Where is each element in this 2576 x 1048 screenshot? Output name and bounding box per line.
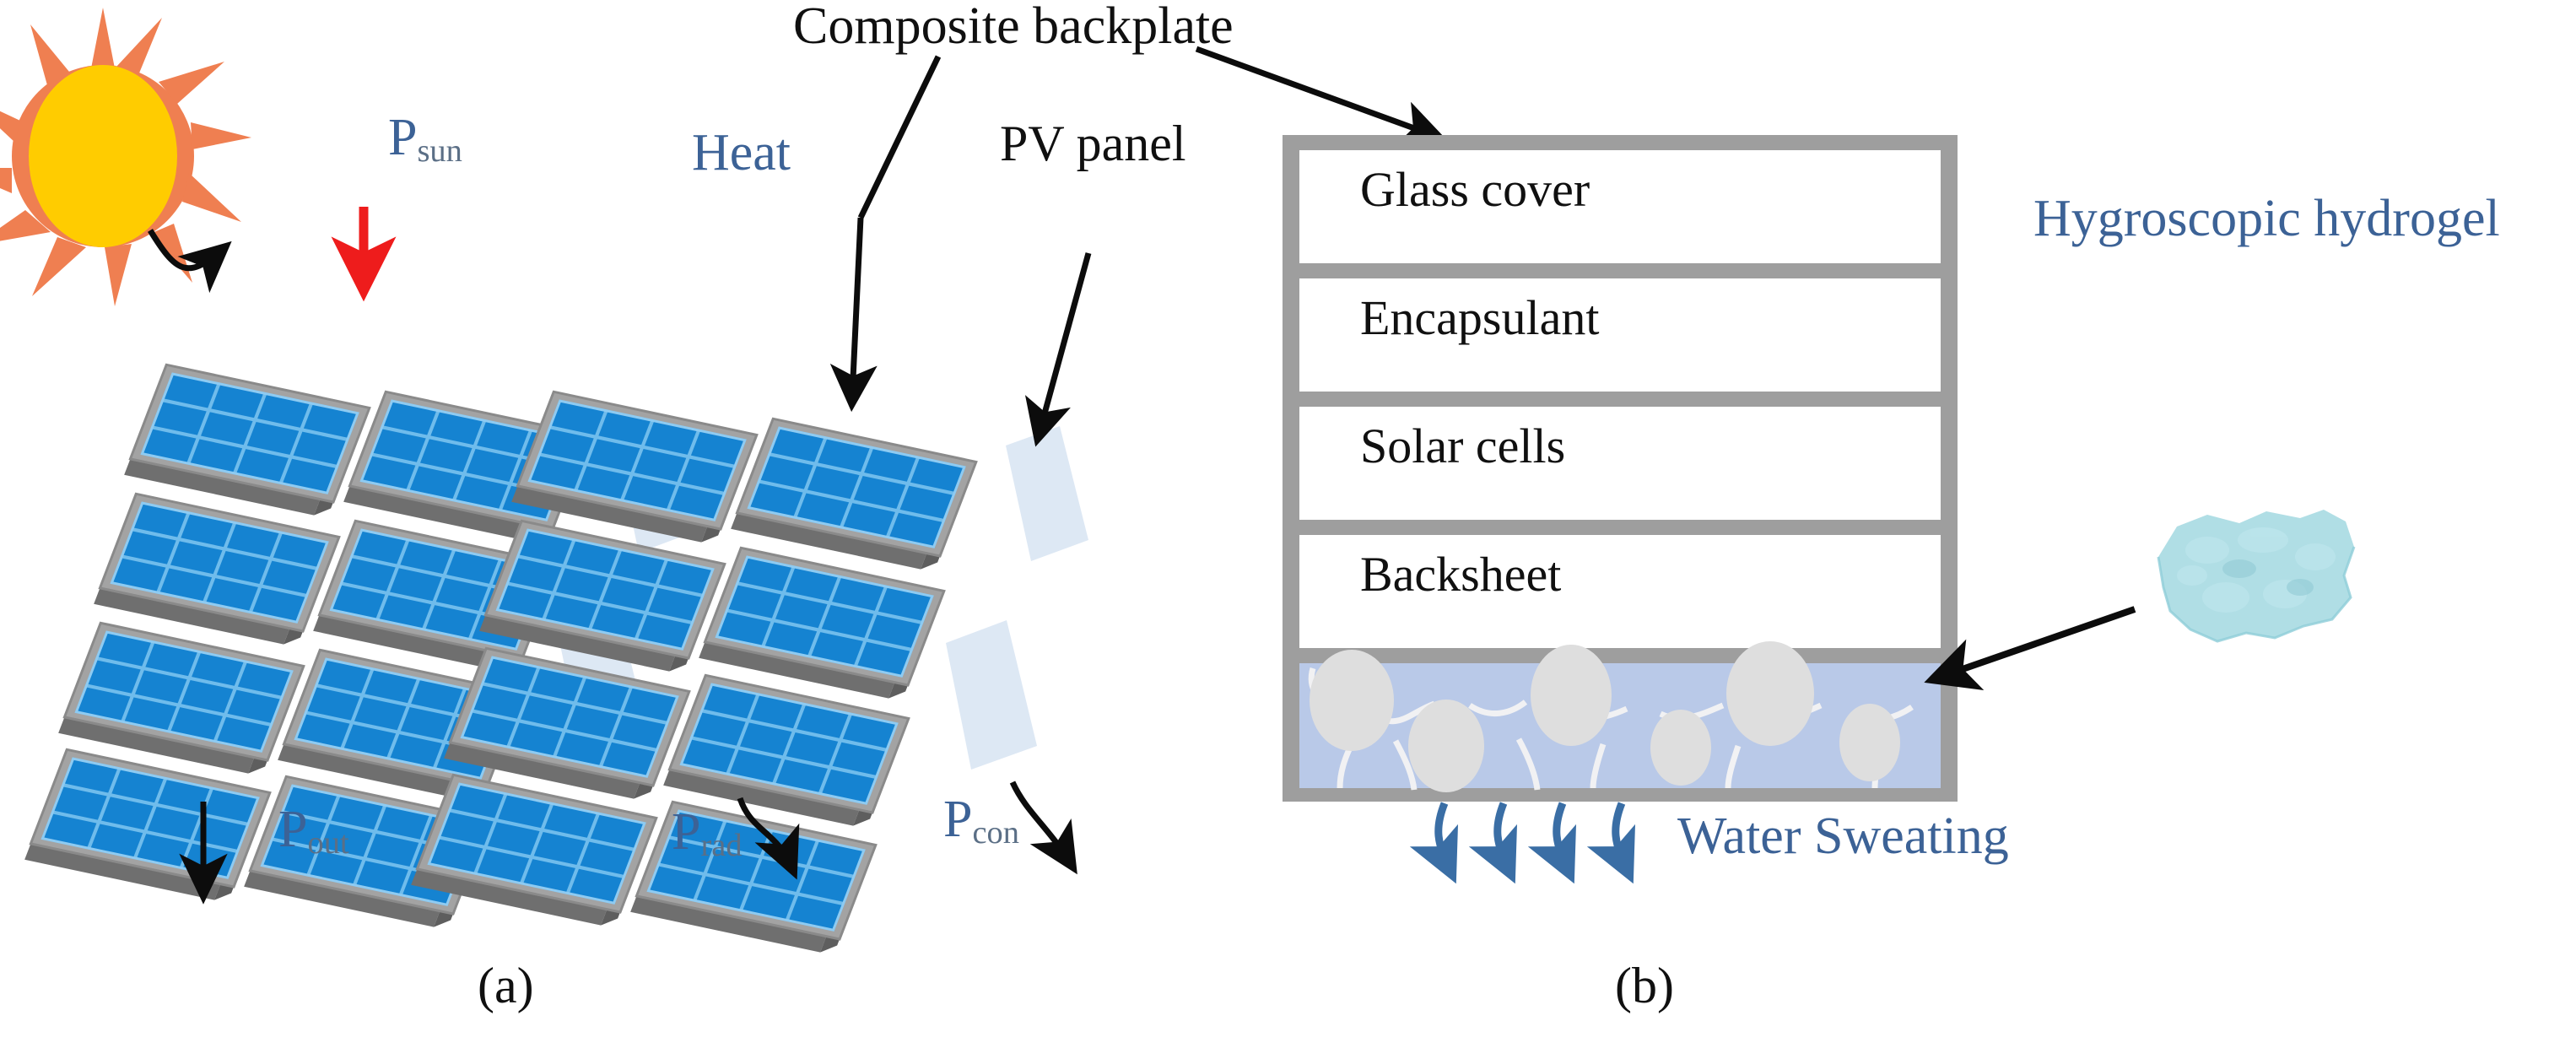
figure-graphics — [0, 0, 2576, 1048]
water-droplet-arrow-icon — [1616, 803, 1625, 866]
layer-label-backsheet: Backsheet — [1360, 550, 1561, 599]
layer-hygroscopic-hydrogel — [1299, 641, 1941, 792]
label-heat: Heat — [692, 127, 791, 179]
hydrogel-arrow-icon — [1941, 609, 2135, 677]
backplate-leader-left-stem — [861, 57, 938, 218]
label-p-rad: Prad — [672, 806, 743, 858]
label-hygroscopic-hydrogel: Hygroscopic hydrogel — [2033, 192, 2500, 245]
label-pv-panel: PV panel — [1000, 118, 1186, 169]
layer-label-encapsulant: Encapsulant — [1360, 294, 1599, 343]
hydrogel-block-icon — [2158, 510, 2354, 641]
backplate-arrow-right — [1196, 49, 1433, 135]
caption-panel-a: (a) — [478, 960, 534, 1011]
water-droplet-arrow-icon — [1557, 803, 1566, 866]
sun-icon — [0, 8, 251, 306]
layer-label-glass-cover: Glass cover — [1360, 165, 1590, 214]
p-con-arrow-icon — [1013, 782, 1070, 862]
water-droplet-arrow-icon — [1439, 803, 1448, 866]
figure-root: Psun Pout Prad Pcon Heat PV panel Compos… — [0, 0, 2576, 1048]
backplate-arrow-left — [852, 218, 861, 397]
layer-label-solar-cells: Solar cells — [1360, 422, 1565, 471]
water-droplet-arrow-icon — [1498, 803, 1507, 866]
label-water-sweating: Water Sweating — [1677, 810, 2009, 862]
caption-panel-b: (b) — [1615, 960, 1674, 1011]
decorative-path-2 — [1059, 167, 1115, 236]
label-composite-backplate: Composite backplate — [793, 0, 1234, 52]
water-sweating-arrows — [1439, 803, 1625, 866]
label-p-sun: Psun — [388, 111, 462, 164]
label-p-out: Pout — [278, 803, 349, 856]
pv-panel-arrow-icon — [1040, 253, 1088, 432]
label-p-con: Pcon — [943, 793, 1019, 845]
